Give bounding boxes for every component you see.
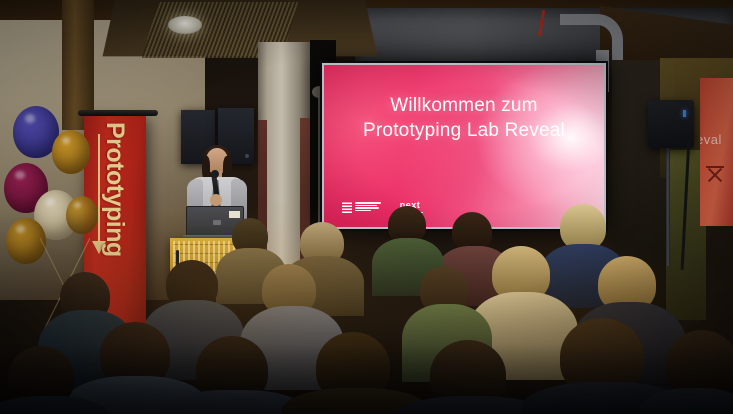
- ceiling-spotlight: [168, 16, 202, 34]
- secondary-display-logo-mark: [706, 166, 724, 184]
- slide-surface: Willkommen zum Prototyping Lab Reveal ne…: [324, 65, 604, 227]
- slide-title: Willkommen zum Prototyping Lab Reveal: [324, 93, 604, 143]
- secondary-display-logo-bar: [706, 166, 724, 168]
- audience: [0, 204, 733, 414]
- slide-title-line2: Prototyping Lab Reveal: [324, 118, 604, 143]
- slide-title-line1: Willkommen zum: [390, 95, 537, 116]
- balloon-gold: [52, 130, 90, 174]
- microphone-head: [211, 170, 219, 178]
- event-photo-scene: eval Willkommen zum Prototyping Lab Reve…: [0, 0, 733, 414]
- power-led-icon: [683, 110, 686, 117]
- secondary-display-text: eval: [700, 132, 722, 147]
